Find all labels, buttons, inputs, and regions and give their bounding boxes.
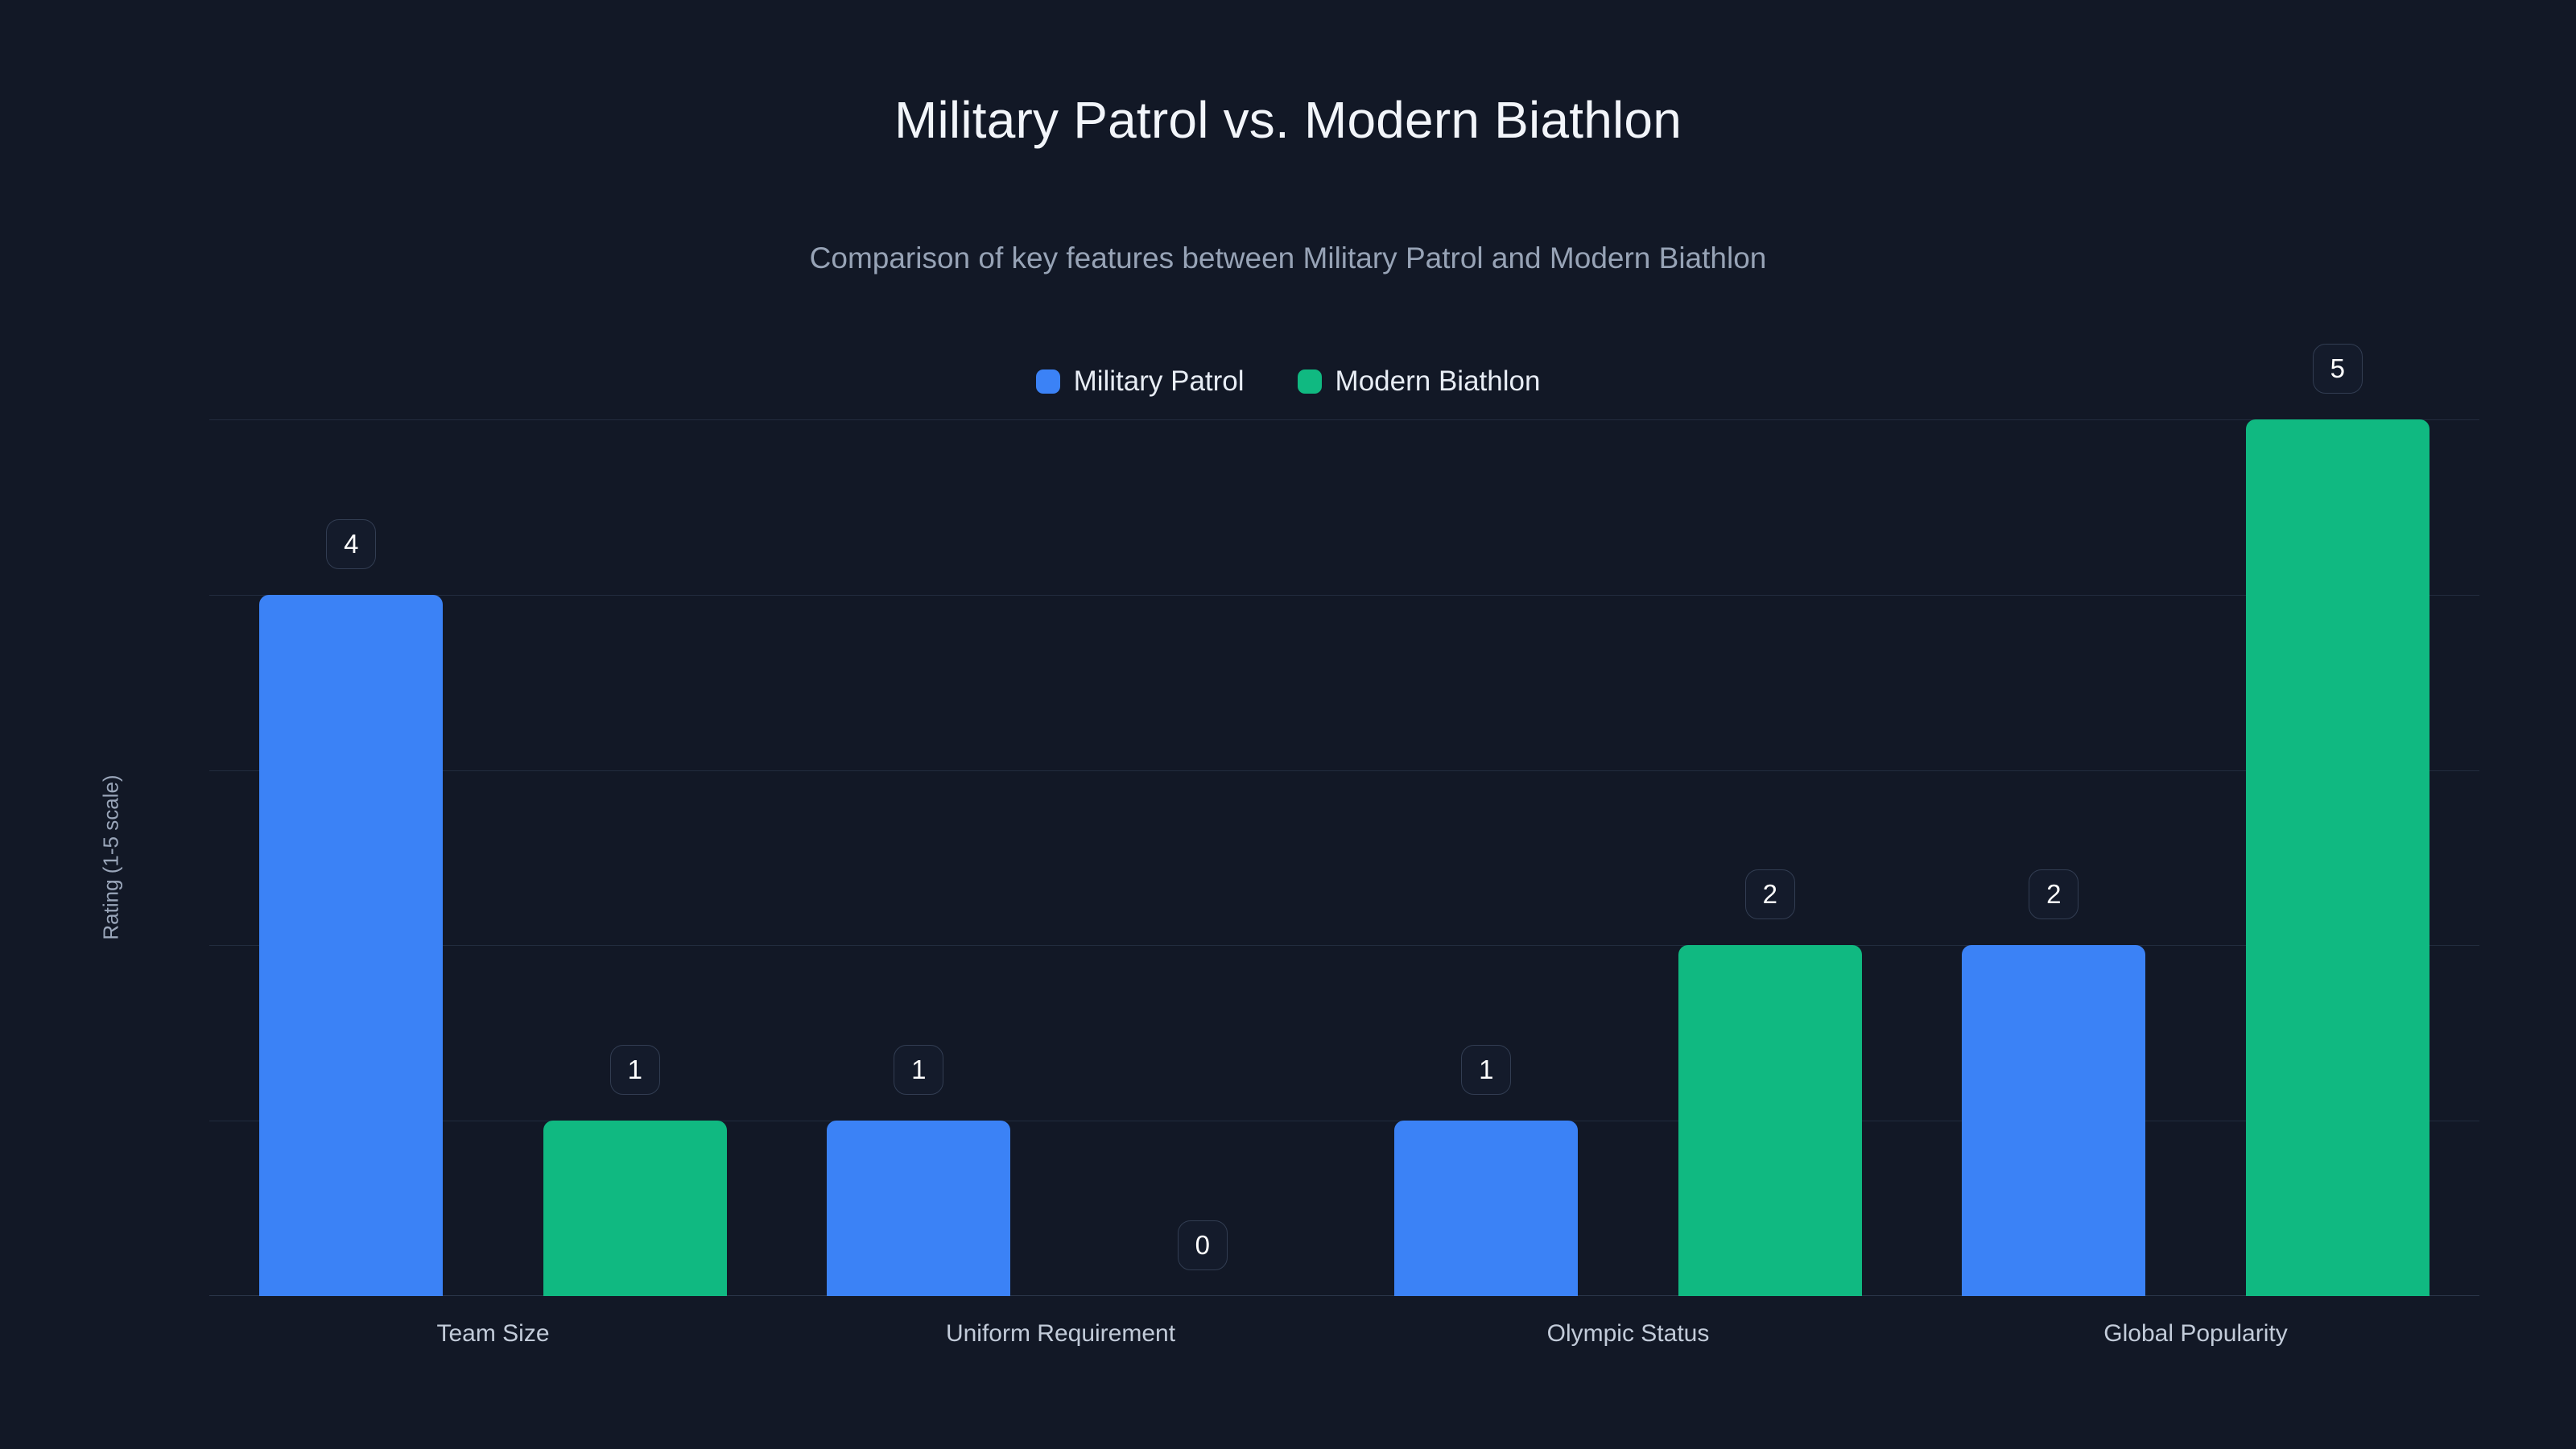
data-label-badge: 0 (1178, 1220, 1228, 1270)
x-axis-labels: Team Size Uniform Requirement Olympic St… (209, 1320, 2479, 1348)
legend-item-military-patrol[interactable]: Military Patrol (1036, 367, 1245, 395)
data-label-badge: 1 (894, 1045, 943, 1095)
data-label-badge: 4 (326, 519, 376, 569)
data-label-badge: 2 (2029, 869, 2079, 919)
data-label-badge: 1 (610, 1045, 660, 1095)
bar-group-global-popularity: 2 5 (1912, 419, 2479, 1296)
chart-page: Military Patrol vs. Modern Biathlon Comp… (0, 0, 2576, 1449)
legend-label-military-patrol: Military Patrol (1074, 367, 1245, 395)
legend-swatch-icon-modern-biathlon (1298, 369, 1322, 394)
chart-subtitle: Comparison of key features between Milit… (0, 242, 2576, 275)
bar-olympic-status-military-patrol[interactable] (1394, 1121, 1578, 1296)
bar-slot-uniform-requirement-military-patrol: 1 (777, 419, 1061, 1296)
bar-uniform-requirement-military-patrol[interactable] (827, 1121, 1010, 1296)
bar-slot-uniform-requirement-modern-biathlon: 0 (1061, 419, 1345, 1296)
bar-global-popularity-military-patrol[interactable] (1962, 945, 2145, 1296)
bar-team-size-modern-biathlon[interactable] (543, 1121, 727, 1296)
bar-group-uniform-requirement: 1 0 (777, 419, 1344, 1296)
bar-team-size-military-patrol[interactable] (259, 595, 443, 1296)
bar-slot-team-size-military-patrol: 4 (209, 419, 493, 1296)
chart-legend: Military Patrol Modern Biathlon (0, 367, 2576, 395)
bar-slot-global-popularity-modern-biathlon: 5 (2196, 419, 2480, 1296)
bar-olympic-status-modern-biathlon[interactable] (1678, 945, 1862, 1296)
legend-label-modern-biathlon: Modern Biathlon (1335, 367, 1541, 395)
data-label-badge: 5 (2313, 344, 2363, 394)
x-label-olympic-status: Olympic Status (1344, 1320, 1912, 1348)
plot-area: 4 1 1 0 (209, 419, 2479, 1296)
x-label-uniform-requirement: Uniform Requirement (777, 1320, 1344, 1348)
bar-slot-global-popularity-military-patrol: 2 (1912, 419, 2196, 1296)
bar-global-popularity-modern-biathlon[interactable] (2246, 419, 2429, 1296)
bar-slot-olympic-status-military-patrol: 1 (1344, 419, 1629, 1296)
bar-group-team-size: 4 1 (209, 419, 777, 1296)
x-label-global-popularity: Global Popularity (1912, 1320, 2479, 1348)
data-label-badge: 2 (1745, 869, 1795, 919)
page-title: Military Patrol vs. Modern Biathlon (0, 90, 2576, 150)
x-label-team-size: Team Size (209, 1320, 777, 1348)
bar-groups: 4 1 1 0 (209, 419, 2479, 1296)
y-axis-title: Rating (1-5 scale) (99, 774, 124, 939)
data-label-badge: 1 (1461, 1045, 1511, 1095)
bar-slot-team-size-modern-biathlon: 1 (493, 419, 778, 1296)
legend-swatch-icon-military-patrol (1036, 369, 1060, 394)
bar-slot-olympic-status-modern-biathlon: 2 (1629, 419, 1913, 1296)
legend-item-modern-biathlon[interactable]: Modern Biathlon (1298, 367, 1541, 395)
bar-group-olympic-status: 1 2 (1344, 419, 1912, 1296)
